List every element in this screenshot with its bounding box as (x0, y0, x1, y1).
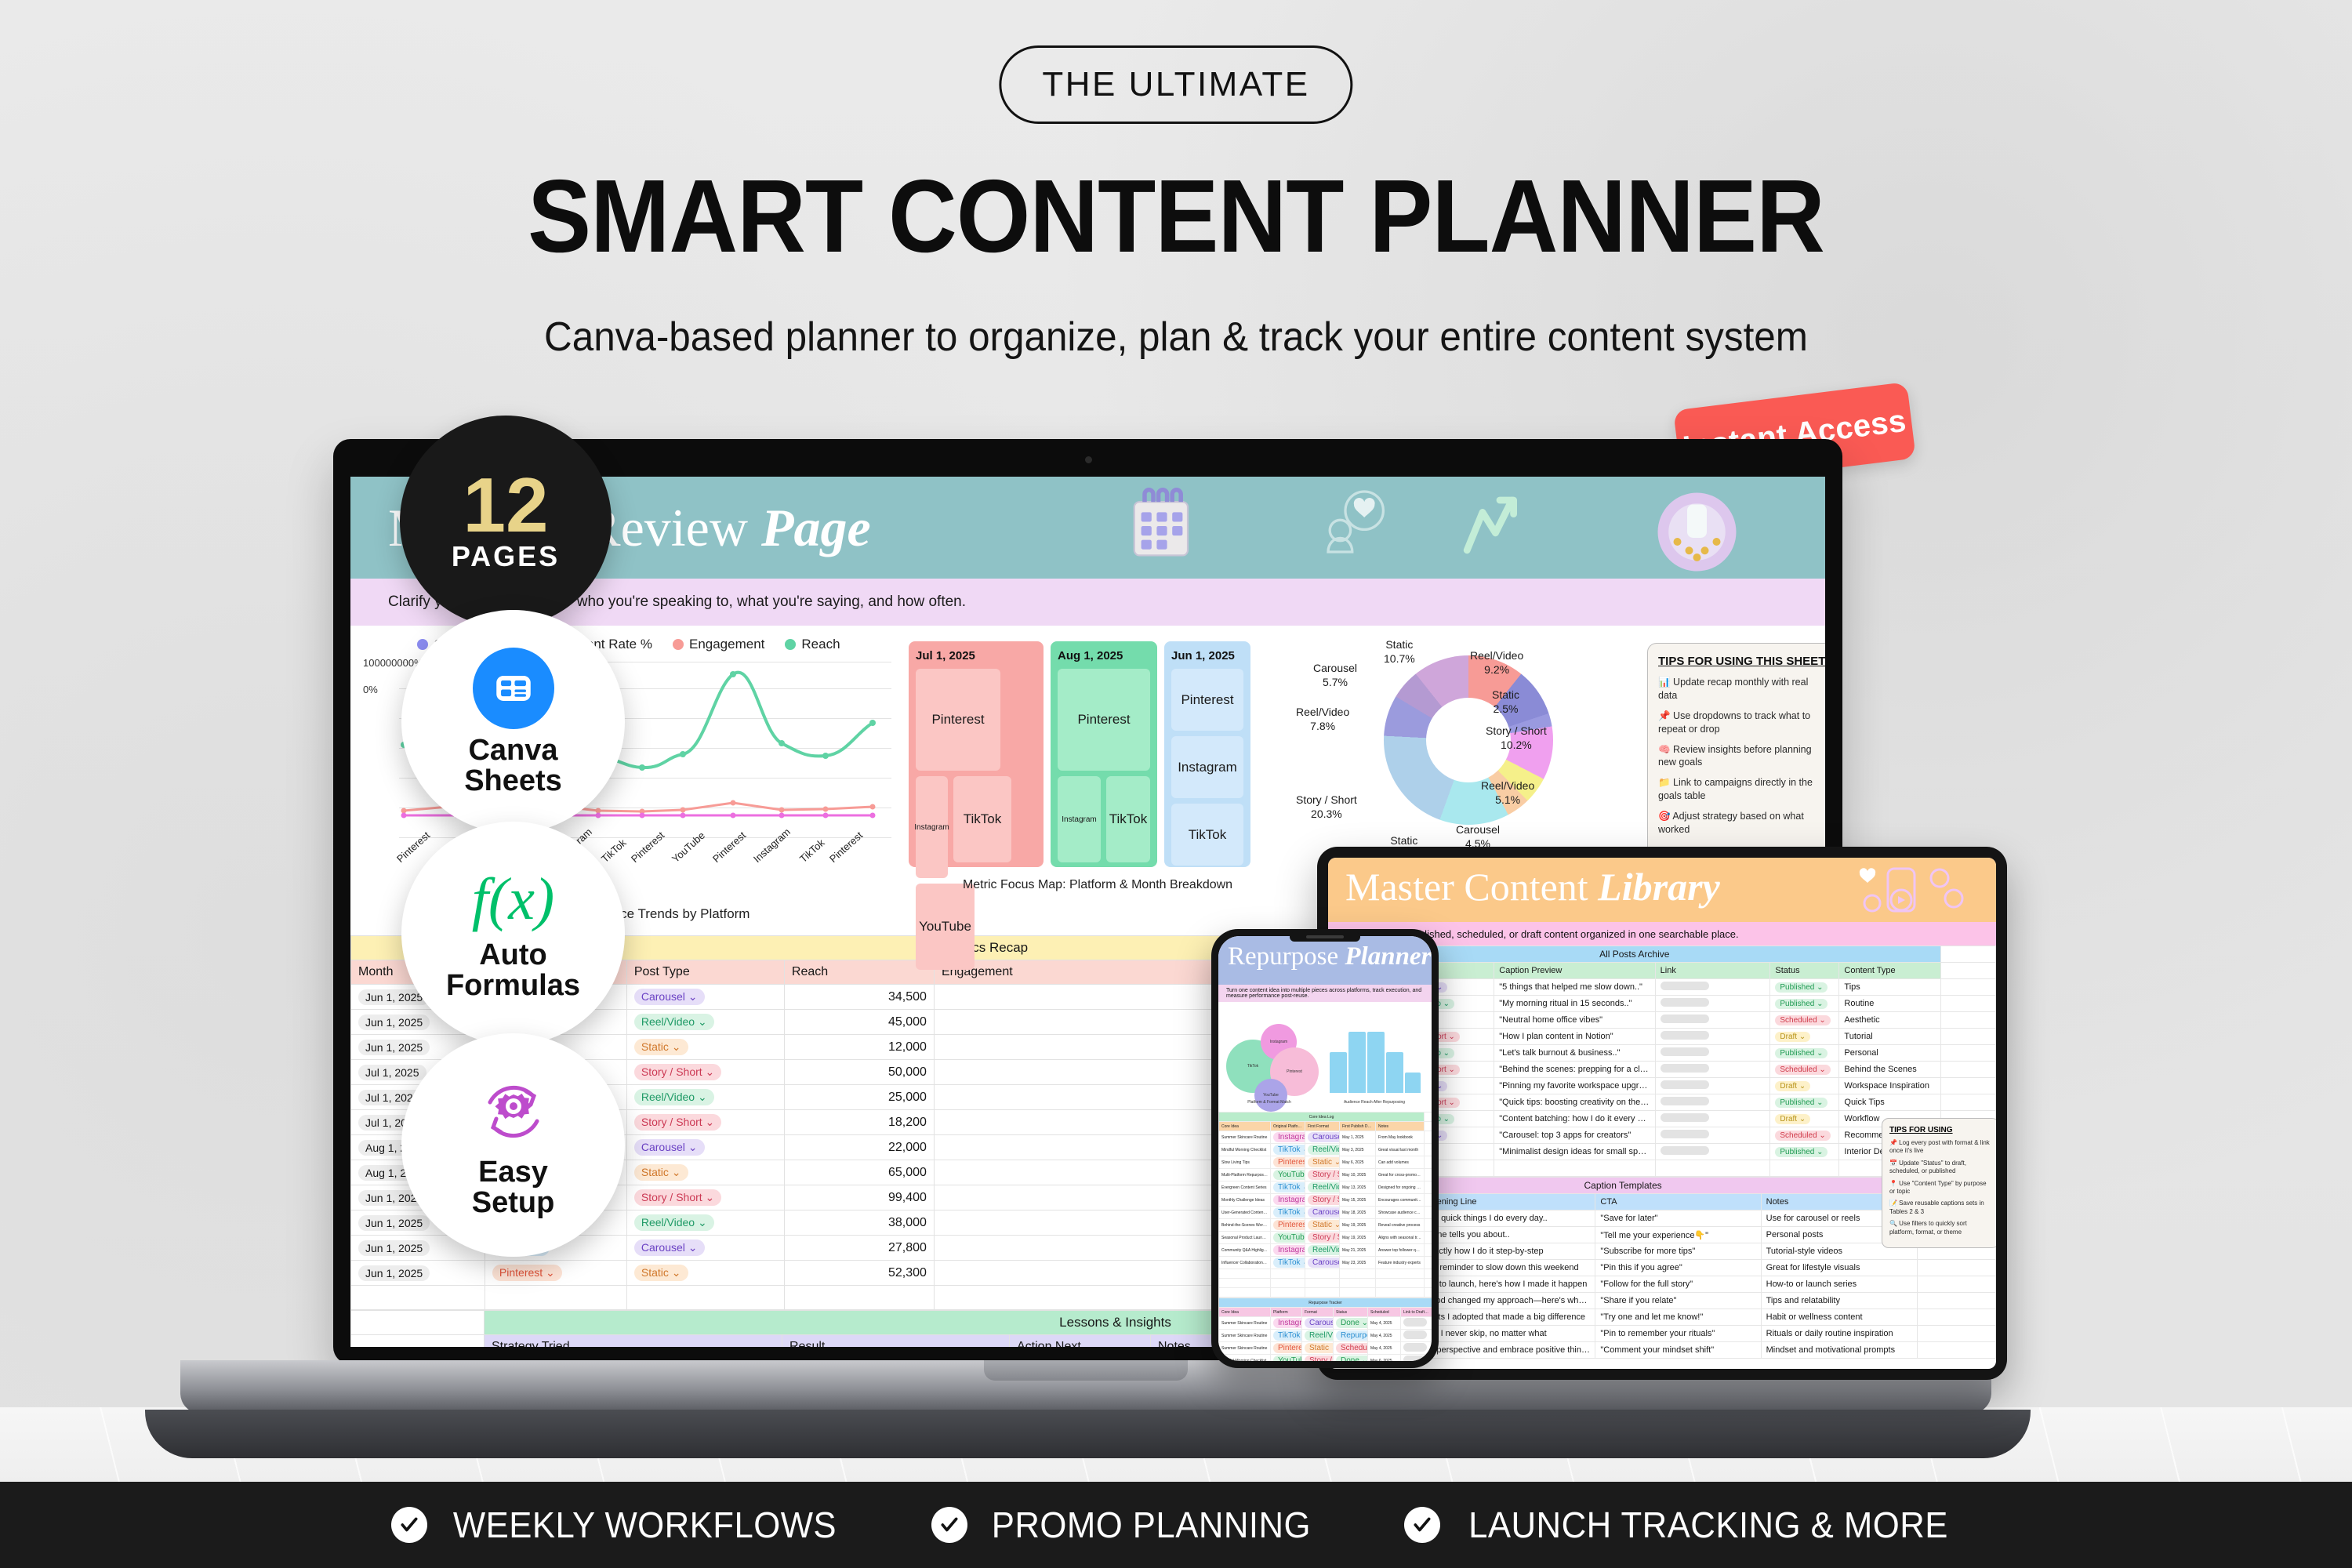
treemap-cell: TikTok (1106, 776, 1150, 862)
tablet-tip-item: 📝 Save reusable captions sets in Tables … (1889, 1200, 1991, 1216)
treemap-cell: YouTube (916, 884, 975, 970)
sheet-grid-icon (491, 666, 536, 711)
footer-item-launch-tracking: LAUNCH TRACKING & MORE (1404, 1504, 1961, 1546)
phone-notch (1290, 932, 1360, 942)
treemap-cell: Instagram (1058, 776, 1101, 862)
footer-label: LAUNCH TRACKING & MORE (1468, 1504, 1948, 1546)
table-row[interactable]: Evergreen Content SeriesTikTok ⌄Reel/Vid… (1219, 1181, 1432, 1194)
col-post-type: Post Type (626, 960, 784, 985)
sheet-title-italic: Page (761, 498, 871, 557)
table-row[interactable]: Summer Skincare RoutineInstagram ⌄Carous… (1219, 1131, 1432, 1144)
table-row[interactable]: Slow Living TipsPinterest ⌄Static ⌄May 6… (1219, 1156, 1432, 1169)
col-action-next: Action Next (1010, 1335, 1151, 1348)
core-idea-log-table: Core Idea Log Core Idea Original Platfor… (1218, 1112, 1432, 1298)
legend-item: Reach (785, 637, 840, 652)
page-subtitle: Canva-based planner to organize, plan & … (59, 314, 2293, 361)
heart-chat-icon (1311, 483, 1397, 569)
core-idea-band: Core Idea Log (1219, 1112, 1425, 1122)
check-circle-icon (391, 1507, 427, 1543)
col-status: Status (1334, 1308, 1368, 1317)
treemap-caption: Metric Focus Map: Platform & Month Break… (906, 878, 1290, 892)
bubble-chart: TikTok Instagram Pinterest YouTube Platf… (1221, 1007, 1317, 1107)
footer-label: PROMO PLANNING (992, 1504, 1311, 1546)
tip-item: 🧠 Review insights before planning new go… (1658, 743, 1825, 770)
repurpose-tracker-table: Repurpose Tracker Core Idea Platform For… (1218, 1298, 1432, 1361)
col-status: Status (1770, 963, 1839, 979)
tip-item: 📊 Update recap monthly with real data (1658, 676, 1825, 702)
treemap-cell: TikTok (1171, 804, 1243, 866)
table-row[interactable]: Behind-the-Scenes WorkflowPinterest ⌄Sta… (1219, 1219, 1432, 1232)
table-row[interactable]: Summer Skincare RoutinePinterest ⌄Static… (1219, 1342, 1432, 1355)
canva-sheets-label: CanvaSheets (464, 735, 562, 797)
table-row[interactable]: Mindful Morning ChecklistYouTube ⌄Story … (1219, 1355, 1432, 1362)
laptop-camera-icon (1085, 456, 1092, 463)
table-row[interactable]: Seasonal Product Launch PlanYouTube ⌄Sto… (1219, 1232, 1432, 1244)
table-row[interactable]: Mindful Morning ChecklistTikTok ⌄Reel/Vi… (1219, 1144, 1432, 1156)
badge-stars-icon (1648, 483, 1746, 579)
footer-bar: WEEKLY WORKFLOWS PROMO PLANNING LAUNCH T… (0, 1482, 2352, 1568)
treemap-cell: TikTok (953, 776, 1011, 862)
repurpose-subtitle: Turn one content idea into multiple piec… (1218, 985, 1432, 1002)
footer-item-promo-planning: PROMO PLANNING (931, 1504, 1319, 1546)
tips-title: TIPS FOR USING THIS SHEET (1658, 655, 1825, 668)
check-circle-icon (931, 1507, 967, 1543)
col-original-platform: Original Platform (1271, 1122, 1305, 1131)
tracker-body: Summer Skincare RoutineInstagram ⌄Carous… (1219, 1317, 1432, 1362)
treemap-column: Jul 1, 2025 Pinterest Instagram TikTok Y… (909, 641, 1044, 867)
treemap-col-title: Jun 1, 2025 (1171, 649, 1243, 662)
donut-label: Reel/Video9.2% (1470, 649, 1523, 677)
tip-item: 🎯 Adjust strategy based on what worked (1658, 810, 1825, 837)
treemap-col-title: Aug 1, 2025 (1058, 649, 1150, 662)
donut-label: Reel/Video5.1% (1481, 779, 1534, 807)
footer-item-weekly-workflows: WEEKLY WORKFLOWS (391, 1504, 847, 1546)
col-caption-preview: Caption Preview (1494, 963, 1655, 979)
formula-fx-icon: f(x) (472, 866, 554, 934)
calendar-icon (1119, 483, 1205, 569)
col-platform: Platform (1271, 1308, 1302, 1317)
canva-sheets-icon (473, 648, 554, 729)
pages-label: PAGES (452, 540, 560, 573)
bar-chart: Audience Reach After Repurposing (1320, 1007, 1428, 1107)
library-title: Master Content Library (1345, 864, 1720, 909)
phone-screen: Repurpose Planner Turn one content idea … (1218, 936, 1432, 1361)
donut-label: Carousel5.7% (1313, 662, 1357, 689)
table-row[interactable]: Community Q&A HighlightsInstagram ⌄Reel/… (1219, 1244, 1432, 1257)
page-title: SMART CONTENT PLANNER (94, 157, 2258, 275)
tracker-band: Repurpose Tracker (1219, 1298, 1432, 1308)
tablet-tip-item: 📅 Update "Status" to draft, scheduled, o… (1889, 1160, 1991, 1176)
col-reach: Reach (784, 960, 934, 985)
tablet-tips-title: TIPS FOR USING (1889, 1126, 1991, 1134)
core-idea-header-row: Core Idea Original Platform First Format… (1219, 1122, 1432, 1131)
treemap-cell: Pinterest (1171, 669, 1243, 731)
auto-formulas-label: AutoFormulas (446, 940, 580, 1001)
tablet-tip-item: 🔍 Use filters to quickly sort platform, … (1889, 1220, 1991, 1236)
table-row[interactable]: Summer Skincare RoutineInstagram ⌄Carous… (1219, 1317, 1432, 1330)
library-deco-icons (1853, 862, 1987, 917)
col-scheduled: Scheduled (1368, 1308, 1401, 1317)
col-format: Format (1302, 1308, 1334, 1317)
donut-label: Story / Short20.3% (1296, 793, 1357, 821)
donut-label: Static2.5% (1492, 688, 1519, 716)
treemap-column: Aug 1, 2025 Pinterest Instagram TikTok (1051, 641, 1157, 867)
col-link-draft: Link to Draft/Post (1401, 1308, 1432, 1317)
footer-label: WEEKLY WORKFLOWS (453, 1504, 837, 1546)
bubble-caption: Platform & Format Match (1221, 1100, 1317, 1105)
easy-setup-badge: EasySetup (401, 1033, 625, 1257)
eyebrow-label: THE ULTIMATE (1042, 65, 1309, 103)
donut-label: Static10.7% (1384, 638, 1415, 666)
easy-setup-label: EasySetup (472, 1157, 555, 1218)
pages-number: 12 (463, 470, 548, 540)
col-strategy: Strategy Tried (485, 1335, 782, 1348)
y-tick-bottom: 0% (363, 684, 378, 695)
core-idea-body: Summer Skincare RoutineInstagram ⌄Carous… (1219, 1131, 1432, 1298)
col-first-publish: First Publish Date (1340, 1122, 1376, 1131)
treemap-cell: Pinterest (916, 669, 1000, 771)
treemap-col-title: Jul 1, 2025 (916, 649, 1036, 662)
col-first-format: First Format (1305, 1122, 1340, 1131)
col-notes: Notes (1376, 1122, 1425, 1131)
treemap-column: Jun 1, 2025 Pinterest Instagram TikTok (1164, 641, 1250, 867)
treemap-cell: Instagram (916, 776, 948, 878)
library-header: Master Content Library (1328, 858, 1996, 922)
tablet-tips-box: TIPS FOR USING 📌 Log every post with for… (1882, 1118, 1996, 1248)
tracker-header-row: Core Idea Platform Format Status Schedul… (1219, 1308, 1432, 1317)
canva-sheets-badge: CanvaSheets (401, 610, 625, 833)
donut-label: Story / Short10.2% (1486, 724, 1547, 752)
tablet-tip-item: 📍 Use "Content Type" by purpose or topic (1889, 1180, 1991, 1196)
gear-refresh-icon (474, 1073, 553, 1151)
treemap-panel: Jul 1, 2025 Pinterest Instagram TikTok Y… (906, 637, 1290, 935)
treemap-cell: Instagram (1171, 736, 1243, 798)
repurpose-header: Repurpose Planner (1218, 936, 1432, 985)
treemap-cell: Pinterest (1058, 669, 1150, 771)
bar-caption: Audience Reach After Repurposing (1320, 1100, 1428, 1105)
legend-item: Engagement (673, 637, 764, 652)
table-row[interactable]: Summer Skincare RoutineTikTok ⌄Reel/Vide… (1219, 1330, 1432, 1342)
col-content-type: Content Type (1839, 963, 1940, 979)
tip-item: 📌 Use dropdowns to track what to repeat … (1658, 710, 1825, 736)
repurpose-title: Repurpose Planner (1228, 942, 1431, 971)
table-row[interactable]: User-Generated Content CollectionTikTok … (1219, 1207, 1432, 1219)
col-result: Result (782, 1335, 1010, 1348)
trend-arrow-icon (1448, 483, 1534, 569)
col-core-idea: Core Idea (1219, 1122, 1271, 1131)
auto-formulas-badge: f(x) AutoFormulas (401, 822, 625, 1045)
table-row[interactable]: Multi-Platform RepurposingYouTube ⌄Story… (1219, 1169, 1432, 1181)
phone-mockup: Repurpose Planner Turn one content idea … (1211, 929, 1439, 1368)
tablet-tip-item: 📌 Log every post with format & link once… (1889, 1139, 1991, 1156)
pages-badge: 12 PAGES (400, 416, 612, 627)
col-cta: CTA (1595, 1194, 1761, 1210)
col-core-idea: Core Idea (1219, 1308, 1271, 1317)
donut-label: Reel/Video7.8% (1296, 706, 1349, 733)
col-link: Link (1655, 963, 1770, 979)
phone-charts: TikTok Instagram Pinterest YouTube Platf… (1218, 1002, 1432, 1112)
eyebrow-pill: THE ULTIMATE (999, 45, 1352, 124)
check-circle-icon (1404, 1507, 1440, 1543)
tip-item: 📁 Link to campaigns directly in the goal… (1658, 776, 1825, 803)
table-row[interactable]: Influencer Collaboration SeriesTikTok ⌄C… (1219, 1257, 1432, 1269)
table-row[interactable]: Monthly Challenge IdeasInstagram ⌄Story … (1219, 1194, 1432, 1207)
laptop-foot (145, 1410, 2031, 1458)
